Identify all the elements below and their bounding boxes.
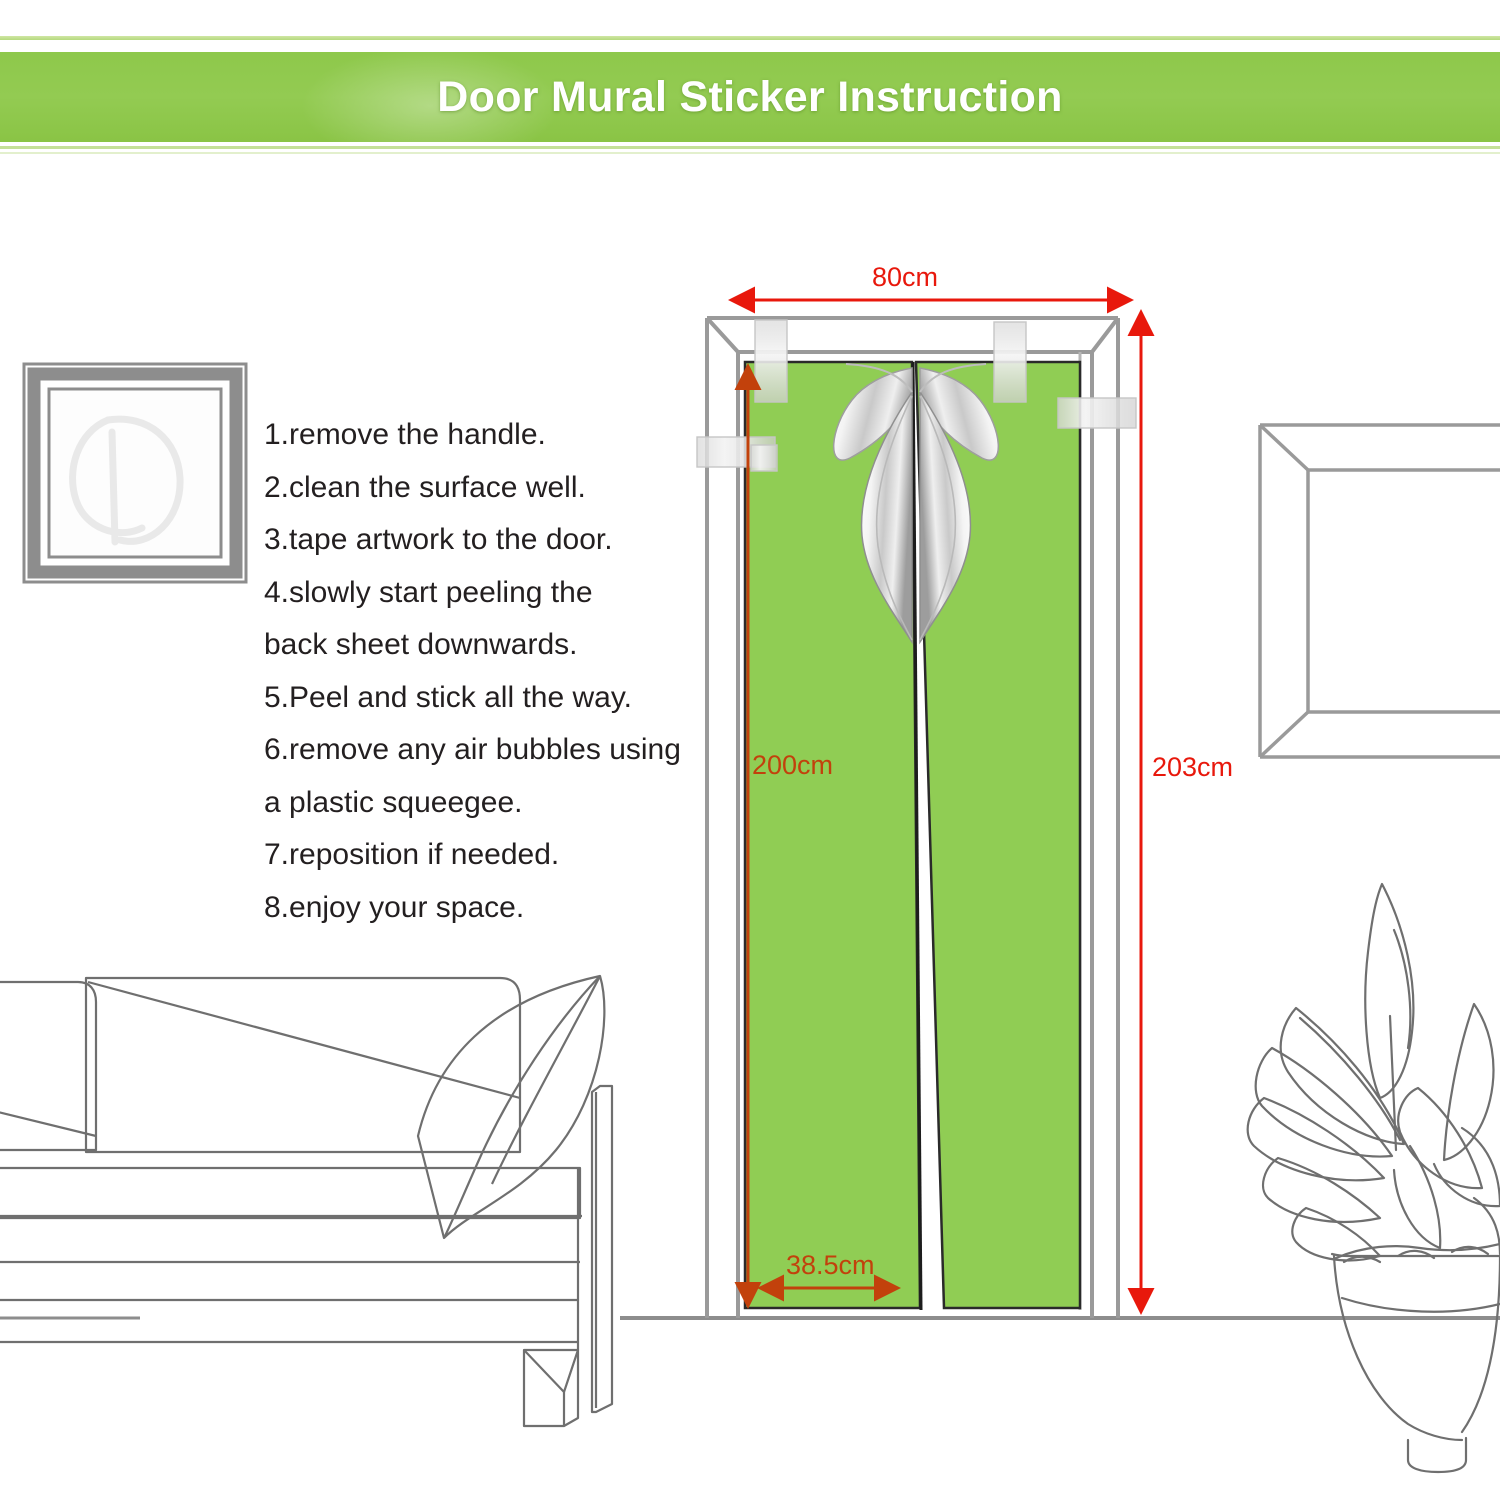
panel-seam	[913, 362, 921, 1310]
dimension-label-width: 80cm	[872, 262, 938, 293]
header-band: Door Mural Sticker Instruction	[0, 52, 1500, 142]
instruction-line: a plastic squeegee.	[264, 788, 684, 818]
tape-right-middle	[1058, 398, 1136, 428]
window-frame	[1260, 425, 1500, 757]
picture-frame	[24, 364, 246, 582]
instruction-line: 2.clean the surface well.	[264, 473, 684, 503]
dimension-label-sticker-height: 200cm	[752, 750, 833, 781]
door-sticker-left-panel	[745, 362, 920, 1308]
potted-plant	[1248, 884, 1500, 1472]
instruction-line: back sheet downwards.	[264, 630, 684, 660]
frame-monogram	[73, 419, 181, 542]
peeled-backing-corners	[834, 364, 999, 642]
peel-left-fold	[862, 392, 912, 642]
dimension-label-door-height: 203cm	[1152, 752, 1233, 783]
instruction-line: 6.remove any air bubbles using	[264, 735, 684, 765]
room-scene	[0, 0, 1500, 1500]
instruction-line: 5.Peel and stick all the way.	[264, 683, 684, 713]
dimension-label-panel-width: 38.5cm	[786, 1250, 875, 1281]
instruction-line: 3.tape artwork to the door.	[264, 525, 684, 555]
tape-top-left	[755, 320, 787, 402]
dimension-arrows	[731, 300, 1141, 1312]
instruction-graphic: Door Mural Sticker Instruction 1.remove …	[0, 0, 1500, 1500]
tape-pieces	[697, 320, 1136, 471]
page-title: Door Mural Sticker Instruction	[437, 73, 1062, 122]
header-bottom-rule-1	[0, 146, 1500, 149]
instruction-line: 8.enjoy your space.	[264, 893, 684, 923]
header-top-rule	[0, 36, 1500, 40]
door-sticker-right-panel	[916, 362, 1080, 1308]
instruction-line: 1.remove the handle.	[264, 420, 684, 450]
header-bottom-rule-2	[0, 152, 1500, 154]
instruction-list: 1.remove the handle. 2.clean the surface…	[264, 420, 684, 945]
tape-top-right	[994, 322, 1026, 402]
instruction-line: 7.reposition if needed.	[264, 840, 684, 870]
tape-left-middle	[697, 437, 775, 467]
peel-right-fold	[920, 392, 970, 642]
peel-right	[920, 368, 998, 460]
peel-left	[834, 368, 912, 460]
instruction-line: 4.slowly start peeling the	[264, 578, 684, 608]
sofa	[0, 976, 612, 1426]
tape-left-small	[751, 445, 777, 471]
door-frame	[707, 318, 1118, 1318]
